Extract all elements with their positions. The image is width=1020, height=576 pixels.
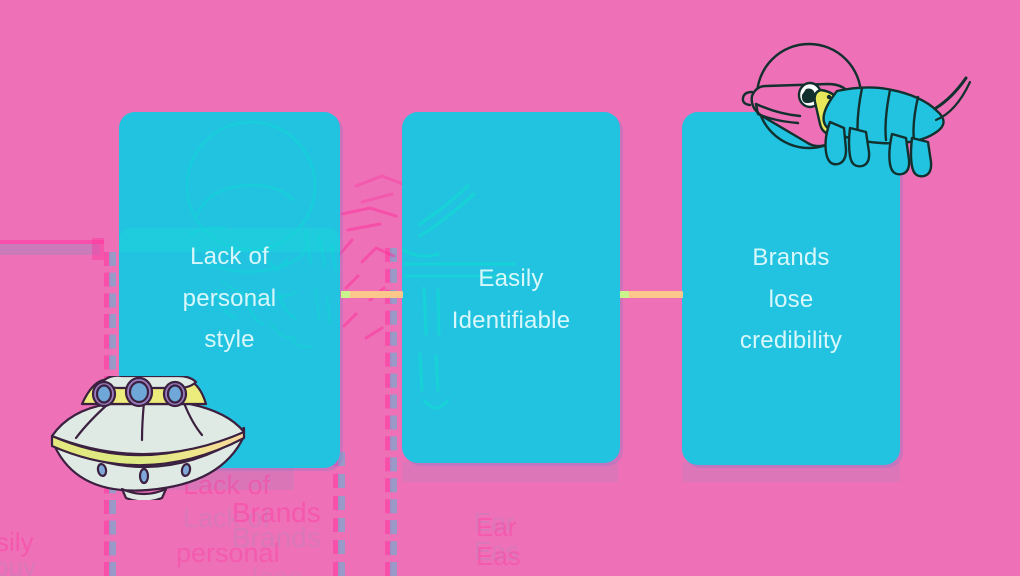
ghost-text-7b: Eas xyxy=(476,541,521,572)
ghost-text-5: lose xyxy=(252,562,303,576)
dachshund-dog-illustration xyxy=(722,34,980,194)
flow-card-easily-identifiable[interactable]: Easily Identifiable xyxy=(402,112,620,463)
connector-card1-card2 xyxy=(341,291,403,298)
flow-card-2-label: Easily Identifiable xyxy=(402,258,620,341)
ghost-text-1: Brands xyxy=(232,497,321,529)
ghost-text-2: Lack of xyxy=(183,503,270,534)
ghost-dashed-line-2b xyxy=(338,452,352,576)
flow-card-3-label: Brands lose credibility xyxy=(682,237,900,362)
ghost-dashed-line-2 xyxy=(333,452,347,576)
ghost-text-3: Brands xyxy=(232,522,321,554)
connector-card2-card3 xyxy=(620,291,683,298)
ghost-bar-top-left xyxy=(0,240,104,244)
ufo-spaceship-illustration xyxy=(44,376,252,500)
ghost-text-9: ouy xyxy=(0,552,36,576)
ghost-bar-top-left-soft xyxy=(0,244,100,255)
ghost-text-8: sily xyxy=(0,527,34,558)
ghost-bar-top-left-edge xyxy=(92,238,104,260)
ghost-block-under-card2 xyxy=(402,462,618,482)
ghost-text-4: personal xyxy=(176,538,280,569)
ghost-text-6: Ear xyxy=(474,507,514,538)
slide-canvas: Lack of Lack of Brands Brands personal l… xyxy=(0,0,1020,576)
ghost-block-under-card3 xyxy=(682,462,900,482)
flow-card-1-label: Lack of personal style xyxy=(119,236,340,361)
ghost-text-7: Eas xyxy=(474,536,519,567)
ghost-text-6b: Ear xyxy=(476,512,516,543)
